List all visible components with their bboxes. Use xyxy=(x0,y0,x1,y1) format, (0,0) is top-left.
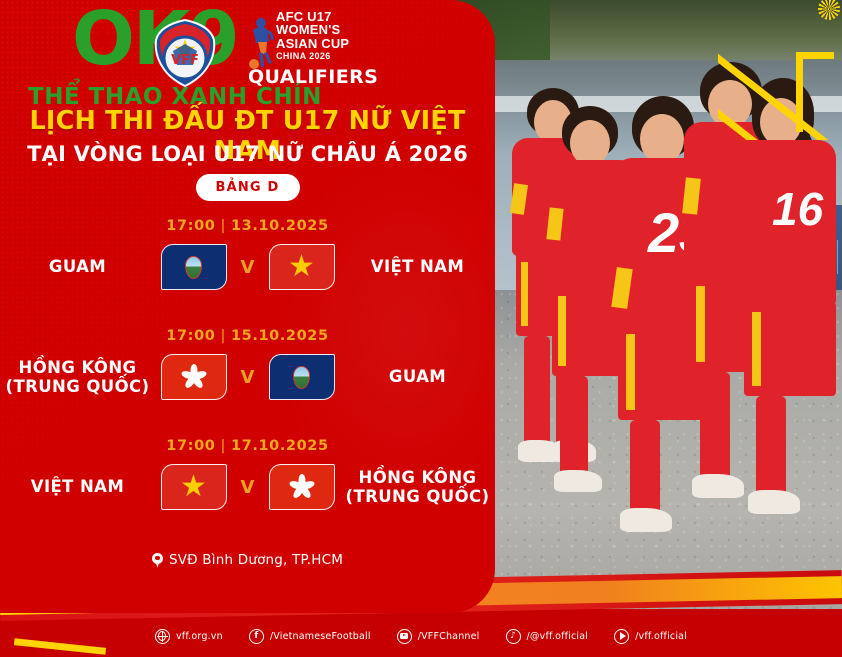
social-label: /VietnameseFootball xyxy=(270,631,371,642)
team-name-home: GUAM xyxy=(3,257,153,276)
social-link-facebook[interactable]: f /VietnameseFootball xyxy=(249,629,371,644)
globe-icon xyxy=(155,629,170,644)
team-name-away: VIỆT NAM xyxy=(343,257,493,276)
versus-label: V xyxy=(235,477,261,498)
social-link-youtube[interactable]: /VFFChannel xyxy=(397,629,480,644)
match-time: 17:00 xyxy=(166,218,215,234)
match-datetime: 17:00|13.10.2025 xyxy=(0,218,495,234)
match-separator: | xyxy=(220,438,226,454)
match-list: 17:00|13.10.2025 GUAM V ★ VIỆT NAM 17:00… xyxy=(0,218,495,548)
poster-root: 23 16 xyxy=(0,0,842,657)
match-row: 17:00|13.10.2025 GUAM V ★ VIỆT NAM xyxy=(0,218,495,328)
location-pin-icon xyxy=(152,553,163,568)
match-datetime: 17:00|17.10.2025 xyxy=(0,438,495,454)
venue-info: SVĐ Bình Dương, TP.HCM xyxy=(0,552,495,568)
match-date: 15.10.2025 xyxy=(231,328,329,344)
tiktok-icon: ♪ xyxy=(506,629,521,644)
team-name-home: VIỆT NAM xyxy=(3,477,153,496)
match-separator: | xyxy=(220,218,226,234)
team-name-away: GUAM xyxy=(343,367,493,386)
youtube-icon xyxy=(397,629,412,644)
facebook-icon: f xyxy=(249,629,264,644)
flag-guam-icon xyxy=(161,244,227,290)
match-date: 13.10.2025 xyxy=(231,218,329,234)
match-time: 17:00 xyxy=(166,328,215,344)
page-subtitle: TẠI VÒNG LOẠI U17 NỮ CHÂU Á 2026 xyxy=(0,142,495,166)
flag-guam-icon xyxy=(269,354,335,400)
match-date: 17.10.2025 xyxy=(231,438,329,454)
afc-text-block: AFC U17 WOMEN'S ASIAN CUP CHINA 2026 xyxy=(276,10,349,61)
svg-text:VFF: VFF xyxy=(171,53,199,68)
play-icon xyxy=(614,629,629,644)
afc-tournament-logo: AFC U17 WOMEN'S ASIAN CUP CHINA 2026 QUA… xyxy=(246,4,351,88)
afc-player-icon xyxy=(246,16,274,70)
flag-vietnam-icon: ★ xyxy=(161,464,227,510)
match-time: 17:00 xyxy=(166,438,215,454)
star-icon: ★ xyxy=(88,26,118,56)
social-label: /vff.official xyxy=(635,631,687,642)
flag-hongkong-icon xyxy=(161,354,227,400)
flag-vietnam-icon: ★ xyxy=(269,244,335,290)
afc-line-3: ASIAN CUP xyxy=(276,37,349,50)
versus-label: V xyxy=(235,257,261,278)
logo-row: OK9 ★ VFF THỂ THAO XANH CHÍN xyxy=(0,0,495,105)
afc-line-2: WOMEN'S xyxy=(276,23,349,36)
social-footer: vff.org.vn f /VietnameseFootball /VFFCha… xyxy=(0,615,842,657)
afc-qualifiers-label: QUALIFIERS xyxy=(248,66,378,88)
match-row: 17:00|17.10.2025 VIỆT NAM ★ V HỒNG KÔNG … xyxy=(0,438,495,548)
team-name-home: HỒNG KÔNG (TRUNG QUỐC) xyxy=(3,358,153,397)
social-link-website[interactable]: vff.org.vn xyxy=(155,629,223,644)
group-badge: BẢNG D xyxy=(195,174,299,201)
decoration-top-right xyxy=(718,0,842,140)
versus-label: V xyxy=(235,367,261,388)
social-link-play[interactable]: /vff.official xyxy=(614,629,687,644)
social-label: /VFFChannel xyxy=(418,631,480,642)
venue-text: SVĐ Bình Dương, TP.HCM xyxy=(169,552,343,568)
social-link-tiktok[interactable]: ♪ /@vff.official xyxy=(506,629,589,644)
flag-hongkong-icon xyxy=(269,464,335,510)
social-label: vff.org.vn xyxy=(176,631,223,642)
match-datetime: 17:00|15.10.2025 xyxy=(0,328,495,344)
content-panel: OK9 ★ VFF THỂ THAO XANH CHÍN xyxy=(0,0,495,613)
team-name-away: HỒNG KÔNG (TRUNG QUỐC) xyxy=(343,468,493,507)
social-label: /@vff.official xyxy=(527,631,589,642)
match-separator: | xyxy=(220,328,226,344)
vff-emblem-icon: VFF xyxy=(152,18,218,88)
match-row: 17:00|15.10.2025 HỒNG KÔNG (TRUNG QUỐC) … xyxy=(0,328,495,438)
afc-line-1: AFC U17 xyxy=(276,10,349,23)
afc-line-4: CHINA 2026 xyxy=(276,52,349,61)
